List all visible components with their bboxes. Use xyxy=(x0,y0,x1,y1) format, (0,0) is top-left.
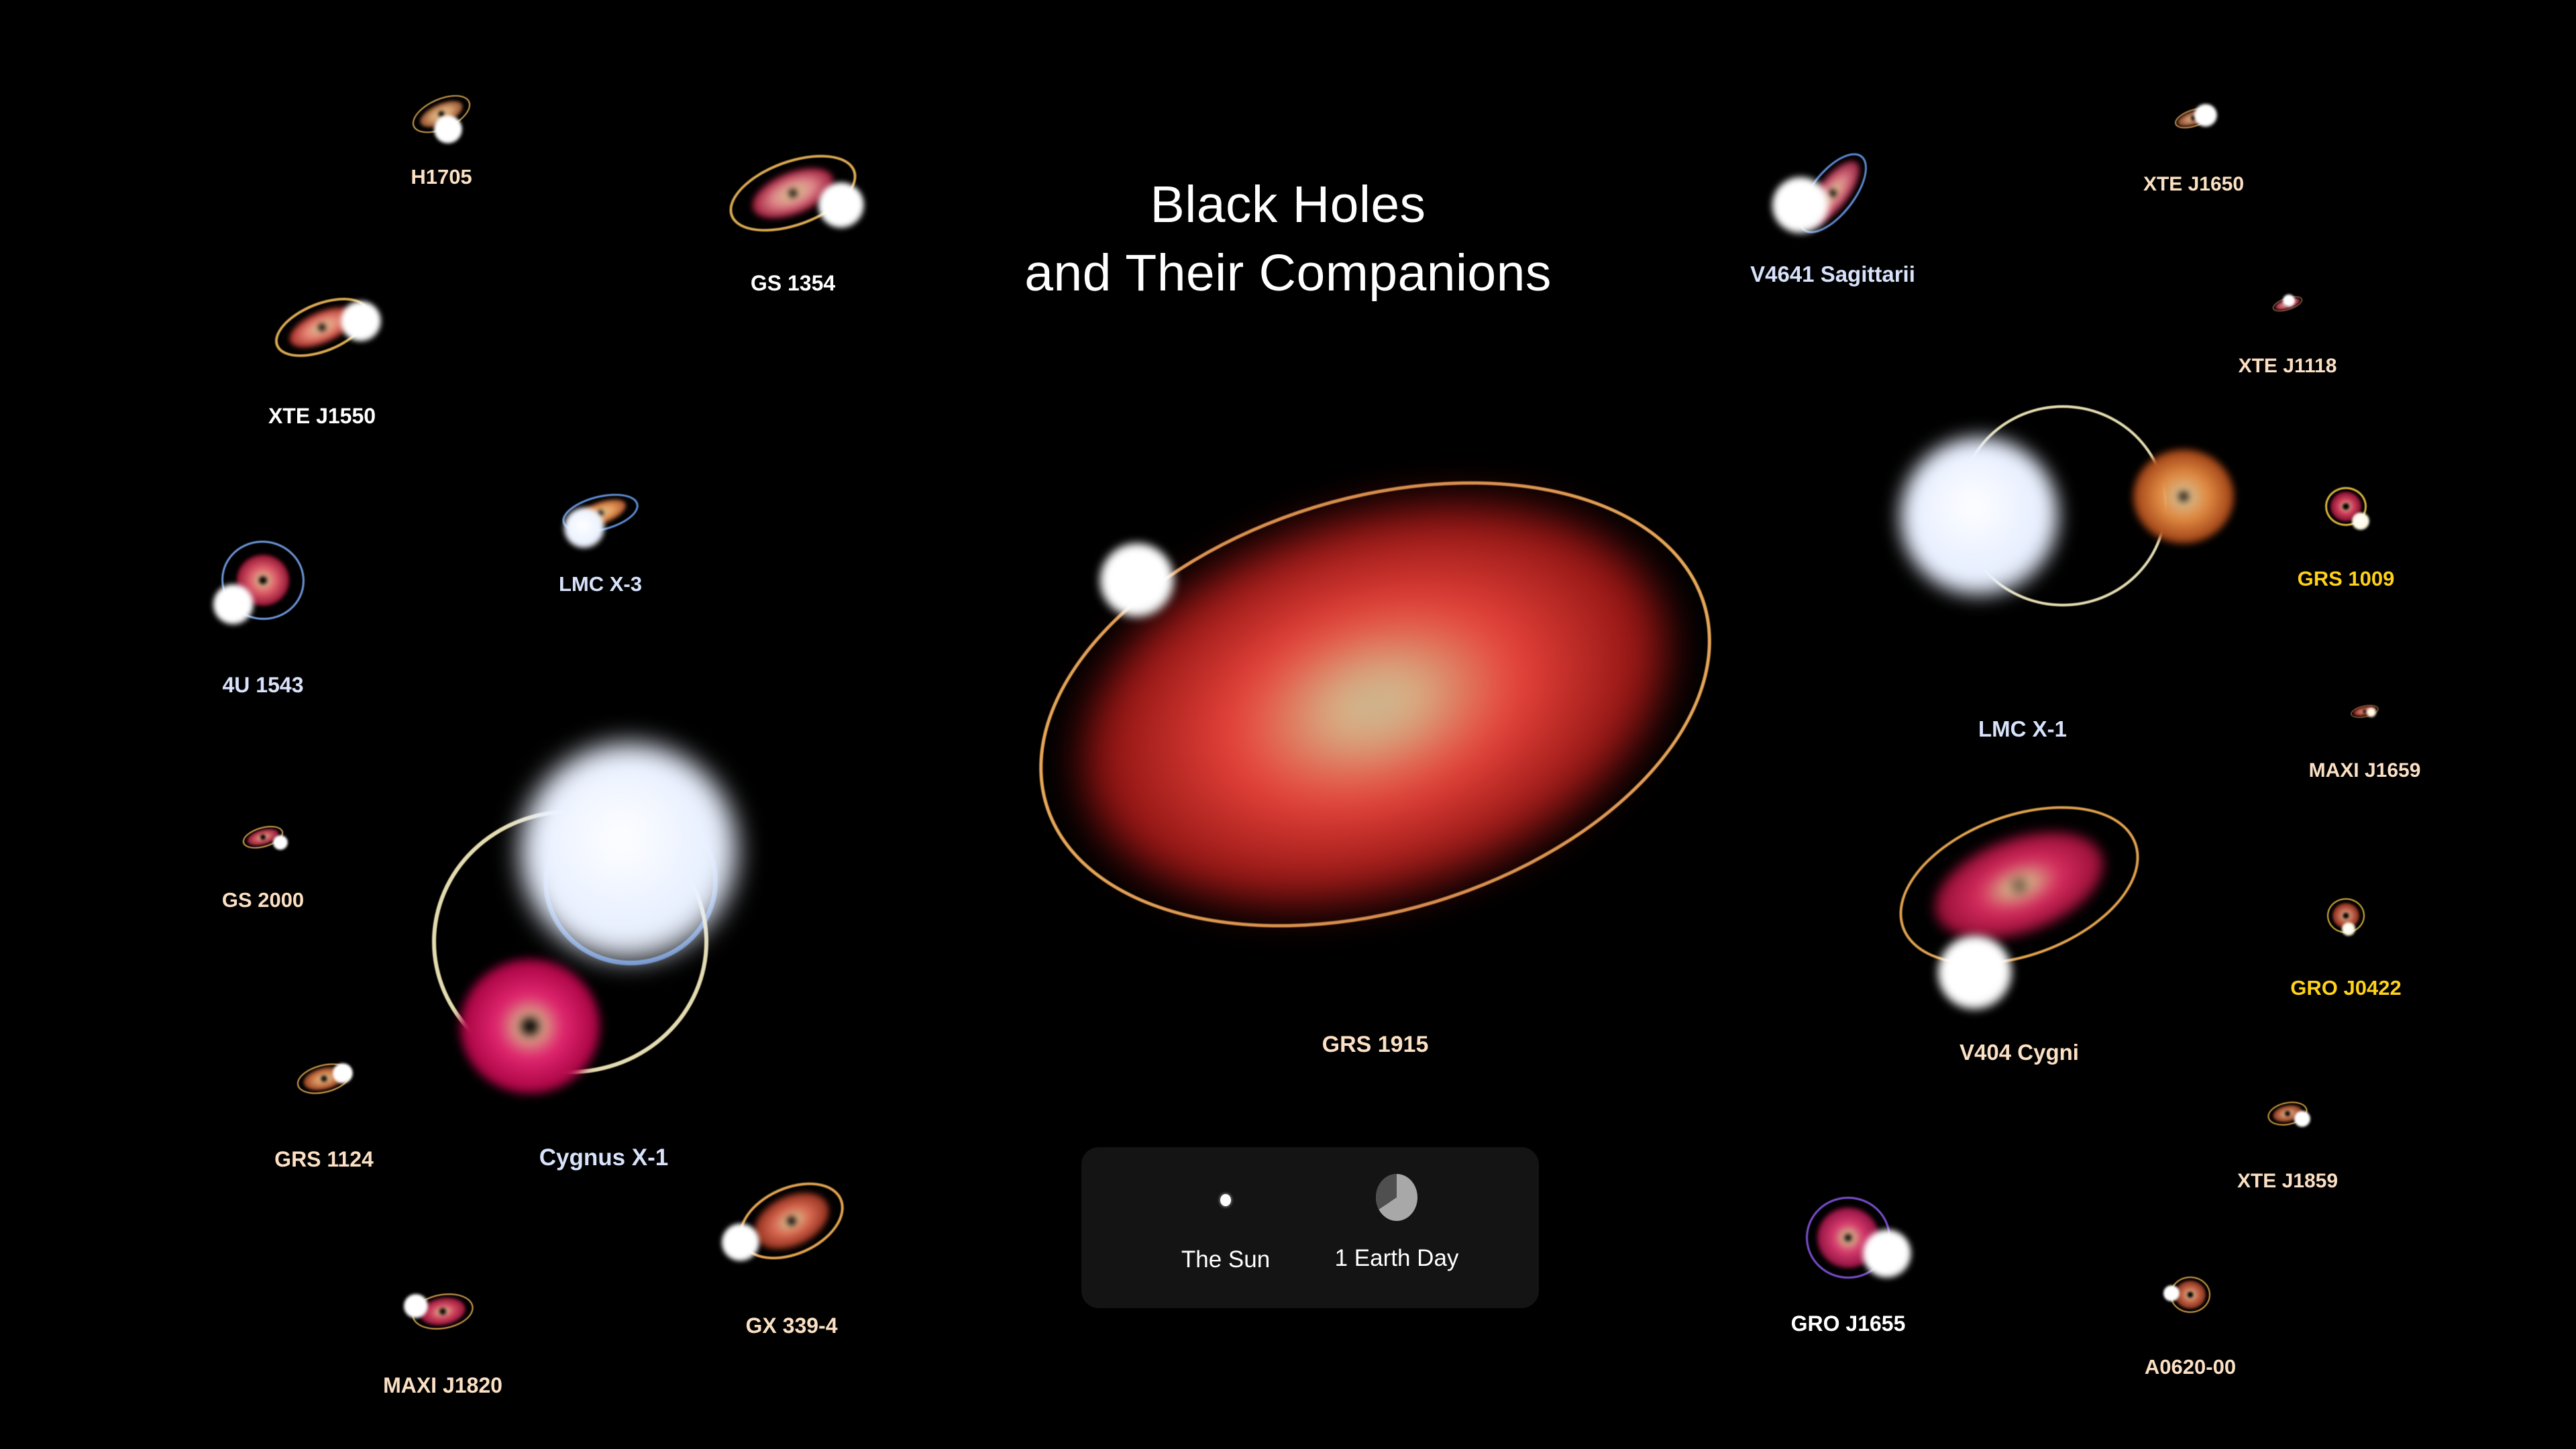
system-label-maxi-j1820: MAXI J1820 xyxy=(383,1375,502,1396)
black-hole xyxy=(788,189,797,197)
system-label-maxi-j1659: MAXI J1659 xyxy=(2309,761,2421,781)
legend-label-earth-day: 1 Earth Day xyxy=(1320,1245,1474,1272)
legend-panel: The Sun 1 Earth Day xyxy=(1081,1147,1539,1308)
companion-star xyxy=(1100,543,1174,617)
system-label-v404-cygni: V404 Cygni xyxy=(1960,1041,2079,1063)
system-label-cygnus-x-1: Cygnus X-1 xyxy=(539,1146,669,1169)
companion-star xyxy=(341,301,381,341)
companion-star xyxy=(1938,936,2012,1010)
system-label-gs-1354: GS 1354 xyxy=(751,272,835,294)
black-hole xyxy=(260,835,265,839)
black-hole xyxy=(2343,504,2349,509)
system-label-grs-1124: GRS 1124 xyxy=(274,1148,374,1170)
companion-star xyxy=(2194,104,2217,127)
system-label-xte-j1859: XTE J1859 xyxy=(2237,1171,2338,1191)
black-hole xyxy=(1845,1235,1851,1241)
black-hole xyxy=(2285,1111,2290,1116)
black-hole xyxy=(787,1216,797,1226)
system-label-a0620-00: A0620-00 xyxy=(2145,1356,2236,1377)
black-hole xyxy=(2188,1293,2193,1297)
black-hole xyxy=(260,577,266,584)
companion-star xyxy=(1863,1230,1911,1278)
accretion-disk xyxy=(2133,449,2234,543)
companion-star xyxy=(818,182,864,228)
system-label-4u-1543: 4U 1543 xyxy=(223,674,304,696)
system-label-xte-j1118: XTE J1118 xyxy=(2239,356,2337,376)
companion-star xyxy=(2283,294,2295,307)
companion-star xyxy=(434,115,462,144)
companion-star xyxy=(273,835,288,850)
system-label-xte-j1550: XTE J1550 xyxy=(268,405,376,427)
companion-star xyxy=(2163,1285,2180,1301)
black-hole xyxy=(2344,914,2349,918)
black-hole xyxy=(1829,189,1837,198)
sun-dot-icon xyxy=(1220,1194,1231,1206)
accretion-disk xyxy=(2175,1281,2206,1309)
black-hole xyxy=(2363,710,2367,713)
companion-star xyxy=(404,1294,428,1318)
companion-star xyxy=(1772,177,1829,233)
system-label-gro-j1655: GRO J1655 xyxy=(1791,1313,1906,1334)
system-label-gro-j0422: GRO J0422 xyxy=(2290,977,2401,998)
companion-star xyxy=(722,1224,759,1261)
companion-star xyxy=(333,1063,353,1083)
companion-star xyxy=(2367,708,2376,717)
visualization-canvas: Black Holes and Their Companions H1705GS… xyxy=(0,0,2576,1449)
black-hole xyxy=(2013,879,2025,892)
black-hole xyxy=(1368,697,1383,712)
earth-day-clock-icon xyxy=(1376,1174,1417,1221)
companion-star xyxy=(564,508,604,548)
legend-item-the-sun: The Sun xyxy=(1155,1194,1296,1273)
system-label-xte-j1650: XTE J1650 xyxy=(2143,174,2244,195)
system-label-gx-339-4: GX 339-4 xyxy=(746,1315,838,1336)
black-hole xyxy=(318,323,326,331)
companion-star xyxy=(213,584,254,625)
companion-star xyxy=(521,743,738,961)
legend-label-the-sun: The Sun xyxy=(1155,1246,1296,1273)
system-label-lmc-x-1: LMC X-1 xyxy=(1978,718,2067,740)
system-label-v4641-sagittarii: V4641 Sagittarii xyxy=(1750,263,1915,285)
black-hole xyxy=(2180,492,2188,500)
companion-star xyxy=(2294,1111,2310,1127)
legend-item-earth-day: 1 Earth Day xyxy=(1320,1174,1474,1272)
black-hole xyxy=(439,1308,445,1314)
black-hole xyxy=(522,1018,538,1034)
black-hole xyxy=(321,1076,327,1081)
companion-star xyxy=(2342,922,2355,936)
system-label-grs-1915: GRS 1915 xyxy=(1322,1033,1429,1056)
companion-star xyxy=(2352,513,2369,530)
system-label-lmc-x-3: LMC X-3 xyxy=(559,574,642,594)
system-label-gs-2000: GS 2000 xyxy=(222,890,304,910)
companion-star xyxy=(1900,437,2059,596)
system-label-h1705: H1705 xyxy=(411,166,472,187)
accretion-disk xyxy=(460,959,600,1093)
system-label-grs-1009: GRS 1009 xyxy=(2298,568,2395,589)
